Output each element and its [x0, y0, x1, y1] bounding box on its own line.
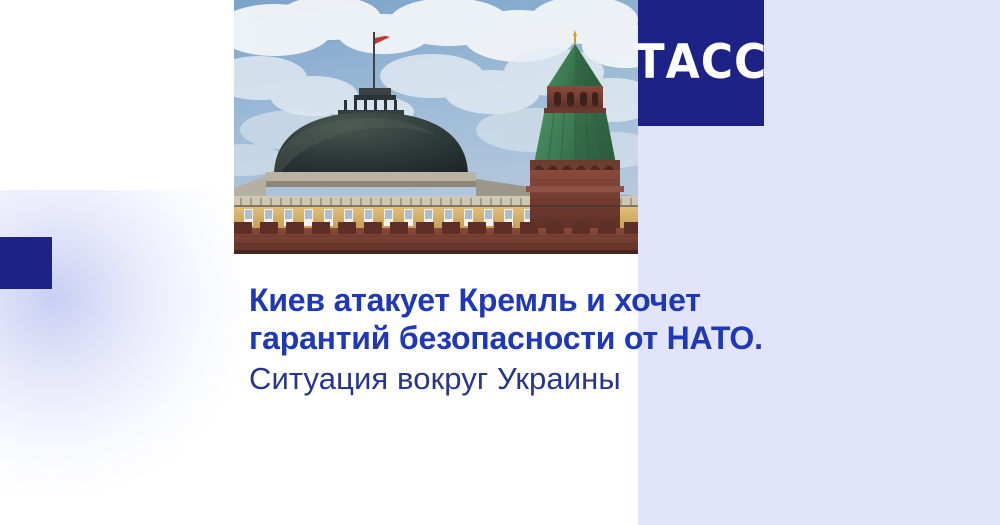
- accent-square: [0, 237, 52, 289]
- kremlin-photo: [234, 0, 638, 254]
- kremlin-photo-illustration: [234, 0, 638, 254]
- tass-logo[interactable]: ТАСС: [638, 0, 764, 126]
- news-card: ТАСС Киев атакует Кремль и хочет гаранти…: [0, 0, 1000, 525]
- article-text-block: Киев атакует Кремль и хочет гарантий без…: [249, 282, 769, 397]
- tass-logo-text: ТАСС: [635, 39, 768, 87]
- article-subtitle[interactable]: Ситуация вокруг Украины: [249, 360, 769, 398]
- article-headline[interactable]: Киев атакует Кремль и хочет гарантий без…: [249, 282, 769, 358]
